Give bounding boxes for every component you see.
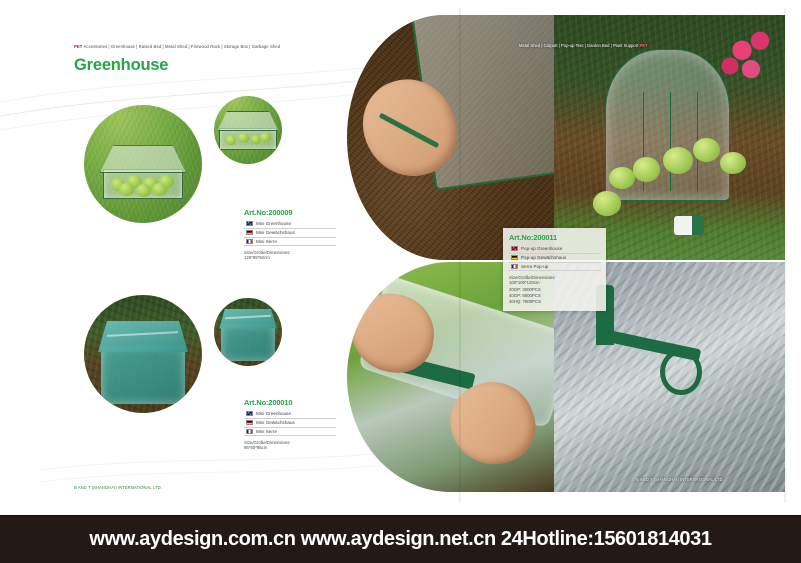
art-no: Art.No:200009 <box>244 208 336 217</box>
flag-fr-icon <box>246 429 253 434</box>
page-footer-right: B AND T (SHANGHAI) INTERNATIONAL LTD. <box>636 477 724 482</box>
flag-uk-icon <box>246 411 253 416</box>
product-name-de: Mini Gewächshaus <box>256 420 295 425</box>
flag-de-icon <box>511 255 518 260</box>
product-name-row: Mini Greenhouse <box>244 410 336 419</box>
art-no: Art.No:200010 <box>244 398 336 407</box>
page-title: Greenhouse <box>74 56 168 75</box>
flag-de-icon <box>246 420 253 425</box>
product-name-en: Mini Greenhouse <box>256 221 291 226</box>
page-gutter <box>459 8 461 503</box>
photo-hand-inserting-stake <box>347 15 554 260</box>
product-name-en: Pop-up Greenhouse <box>521 246 562 251</box>
product-photo-200010-detail <box>214 298 282 366</box>
product-name-row: Pop-up Gewächshaus <box>509 254 601 263</box>
breadcrumb[interactable]: PET Accessories | Greenhouse | Raised Be… <box>74 44 280 49</box>
product-photo-200010-main <box>84 295 202 413</box>
breadcrumb-right[interactable]: Metal Shed | Carport | Pop-up Tent | Gar… <box>519 43 648 48</box>
website-banner: www.aydesign.com.cn www.aydesign.net.cn … <box>0 515 801 563</box>
product-info-200011: Art.No:200011 Pop-up Greenhouse Pop-up G… <box>503 228 606 311</box>
breadcrumb-brand: PET <box>74 44 82 49</box>
product-name-fr: Mini Serre <box>256 239 277 244</box>
photo-popup-greenhouse-garden <box>554 15 785 260</box>
breadcrumb-right-items: Metal Shed | Carport | Pop-up Tent | Gar… <box>519 43 638 48</box>
product-name-row: Mini Gewächshaus <box>244 229 336 238</box>
breadcrumb-right-brand: PET <box>639 43 647 48</box>
product-dimensions: Size/Größe/Dimensions: 100*100*120cm 20G… <box>509 275 601 305</box>
product-name-row: Mini Serre <box>244 238 336 247</box>
product-dimensions: Size/Größe/Dimensions: 125*95*92cm <box>244 250 336 261</box>
art-no: Art.No:200011 <box>509 233 601 242</box>
flag-de-icon <box>246 230 253 235</box>
product-info-200010: Art.No:200010 Mini Greenhouse Mini Gewäc… <box>238 393 341 458</box>
container-load-40hq: 40HQ: 7800PCS <box>509 299 601 305</box>
flag-fr-icon <box>511 264 518 269</box>
flag-uk-icon <box>246 221 253 226</box>
dimensions-value: 125*95*92cm <box>244 255 336 261</box>
product-name-row: Mini Gewächshaus <box>244 419 336 428</box>
page-footer-left: B AND T (SHANGHAI) INTERNATIONAL LTD. <box>74 485 162 490</box>
product-name-fr: Mini Serre <box>256 429 277 434</box>
product-photo-200009-main <box>84 105 202 223</box>
catalog-spread: PET Accessories | Greenhouse | Raised Be… <box>0 0 801 515</box>
dimensions-value: 95*50*95cm <box>244 445 336 451</box>
product-name-de: Pop-up Gewächshaus <box>521 255 566 260</box>
product-name-fr: Serre Pop-up <box>521 264 548 269</box>
product-info-200009: Art.No:200009 Mini Greenhouse Mini Gewäc… <box>238 203 341 268</box>
flag-uk-icon <box>511 246 518 251</box>
product-name-row: Pop-up Greenhouse <box>509 245 601 254</box>
product-name-row: Mini Greenhouse <box>244 220 336 229</box>
product-name-row: Mini Serre <box>244 428 336 437</box>
product-name-de: Mini Gewächshaus <box>256 230 295 235</box>
product-photo-200009-detail <box>214 96 282 164</box>
product-name-en: Mini Greenhouse <box>256 411 291 416</box>
product-name-row: Serre Pop-up <box>509 263 601 272</box>
product-dimensions: Size/Größe/Dimensions: 95*50*95cm <box>244 440 336 451</box>
flag-fr-icon <box>246 239 253 244</box>
breadcrumb-items: Accessories | Greenhouse | Raised Bed | … <box>84 44 281 49</box>
banner-text: www.aydesign.com.cn www.aydesign.net.cn … <box>89 528 711 551</box>
